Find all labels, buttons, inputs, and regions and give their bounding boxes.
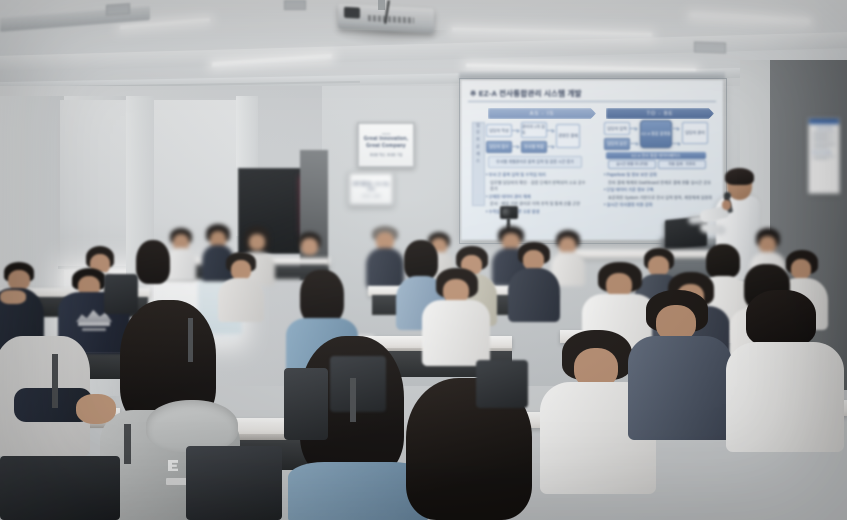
slogan-plaque-title: Great Innovation, Great Company [359, 136, 413, 150]
tripod-head [507, 218, 510, 226]
wall-notice-header: 안전보건 관리 안내문 [812, 150, 836, 154]
slide-box: 담당자 승인 [604, 138, 630, 150]
slide-to-be-diagram: 담당자 입력 EZ-A 통합 플랫폼 담당자 관리 담당자 승인 EZ-A 전사… [604, 120, 714, 170]
hoodie-hood [146, 400, 238, 452]
tshirt-print-line [82, 328, 106, 331]
slide-box: 부서별 취합 [521, 141, 547, 153]
desk-leg [124, 424, 131, 464]
chair[interactable] [186, 446, 282, 520]
slide-banner-as-is: AS - IS [488, 108, 596, 119]
slide-bullet: • Paperless 및 정보 보안 강화 [604, 172, 714, 178]
tshirt-print-line [78, 322, 110, 326]
slogan-plaque-subtitle: 위대한 혁신, 위대한 기업 [370, 152, 403, 157]
slide-note: 부서별 개별관리로 중복 입력 및 검증 시간 증가 [488, 156, 582, 168]
camera-lens-icon [502, 208, 511, 217]
slide-bullet: 표준화된 System 기반으로 전사 입력 항목, 계정체계 일원화 [604, 195, 714, 201]
slide-box: 경영진 결재 [556, 124, 580, 148]
attendee-hand [76, 394, 116, 424]
slide-bullet: • 부서 간 중복 입력 및 수작업 처리 [486, 172, 590, 178]
slide-box: 담당자 관리 [682, 122, 708, 144]
slide-bullet: • 산재된 데이터 관리 체계 [486, 194, 590, 200]
ceiling-vent [694, 41, 726, 53]
seminar-room-photo: VISION Great Innovation, Great Company 위… [0, 0, 847, 520]
chair[interactable] [284, 368, 328, 440]
chair[interactable] [330, 356, 386, 412]
slide-bullet: • 실시간 의사결정 지원 강화 [604, 202, 714, 208]
desk-leg [350, 378, 356, 422]
slide-bullet: 전자 결재 체계와 Dashboard 연계로 결재 현황 실시간 공유 [604, 180, 714, 186]
slide-box: 관리자 1차 검토 [521, 122, 547, 138]
slide-bar: EZ-A 전사 통합 데이터베이스 [606, 152, 706, 159]
ceiling-vent [106, 3, 130, 16]
chair[interactable] [104, 274, 138, 314]
slide-banner-to-be: TO - BE [606, 108, 714, 119]
slide-process-label: 업 무 프 로 세 스 [472, 122, 485, 206]
wall-notice: 교육장 이용 안내 안전보건 관리 안내문 [808, 118, 840, 194]
projector-lens [344, 7, 360, 19]
slide-bullets-right: • Paperless 및 정보 보안 강화 전자 결재 체계와 Dashboa… [604, 172, 714, 210]
slide-bullet: 업무별 담당자의 확인 · 검증 단계가 반복되어 소요 공수 증가 [486, 180, 590, 193]
slide-center-box: EZ-A 통합 플랫폼 [640, 120, 672, 148]
slide-box: 담당자 작성 [486, 124, 512, 137]
slide-as-is-diagram: 담당자 작성 관리자 1차 검토 경영진 결재 담당자 접수 부서별 취합 부서… [486, 122, 590, 168]
wall-notice-title: 교육장 이용 안내 [810, 126, 838, 130]
desk-leg [188, 318, 193, 362]
ceiling-vent [284, 0, 306, 10]
slide-chip: 자동 집계 · 리포트 [658, 160, 706, 169]
slide-chip: 실시간 현황 모니터링 [608, 160, 656, 169]
slide-process-label-text: 업 무 프 로 세 스 [473, 123, 484, 164]
slide-box: 담당자 접수 [486, 141, 512, 153]
chair[interactable] [476, 360, 528, 408]
desk-leg [52, 354, 58, 408]
projector-label [368, 15, 414, 23]
hoodie-chest-logo [168, 460, 178, 471]
desk [560, 250, 710, 258]
slogan-plaque: VISION Great Innovation, Great Company 위… [357, 122, 415, 168]
chair[interactable] [0, 456, 120, 520]
core-value-plaque-title: 내가 할 일, I Do My Job [350, 181, 392, 192]
slide-title: ※ EZ-A 전사통합관리 시스템 개발 [470, 88, 714, 99]
slide-title-rule [468, 101, 716, 102]
core-value-plaque: 내가 할 일, I Do My Job 주인의식 · 실행력 [348, 172, 394, 206]
projector-mount [378, 0, 385, 10]
slide-bullet: • 단일 데이터 기준 정보 구축 [604, 187, 714, 193]
slide-box: 담당자 입력 [604, 122, 630, 135]
attendee-hand [0, 290, 26, 304]
core-value-plaque-subtitle: 주인의식 · 실행력 [361, 194, 380, 198]
presenter-hand [722, 200, 731, 210]
presenter-hair [725, 168, 754, 185]
microphone-capsule [724, 192, 731, 199]
